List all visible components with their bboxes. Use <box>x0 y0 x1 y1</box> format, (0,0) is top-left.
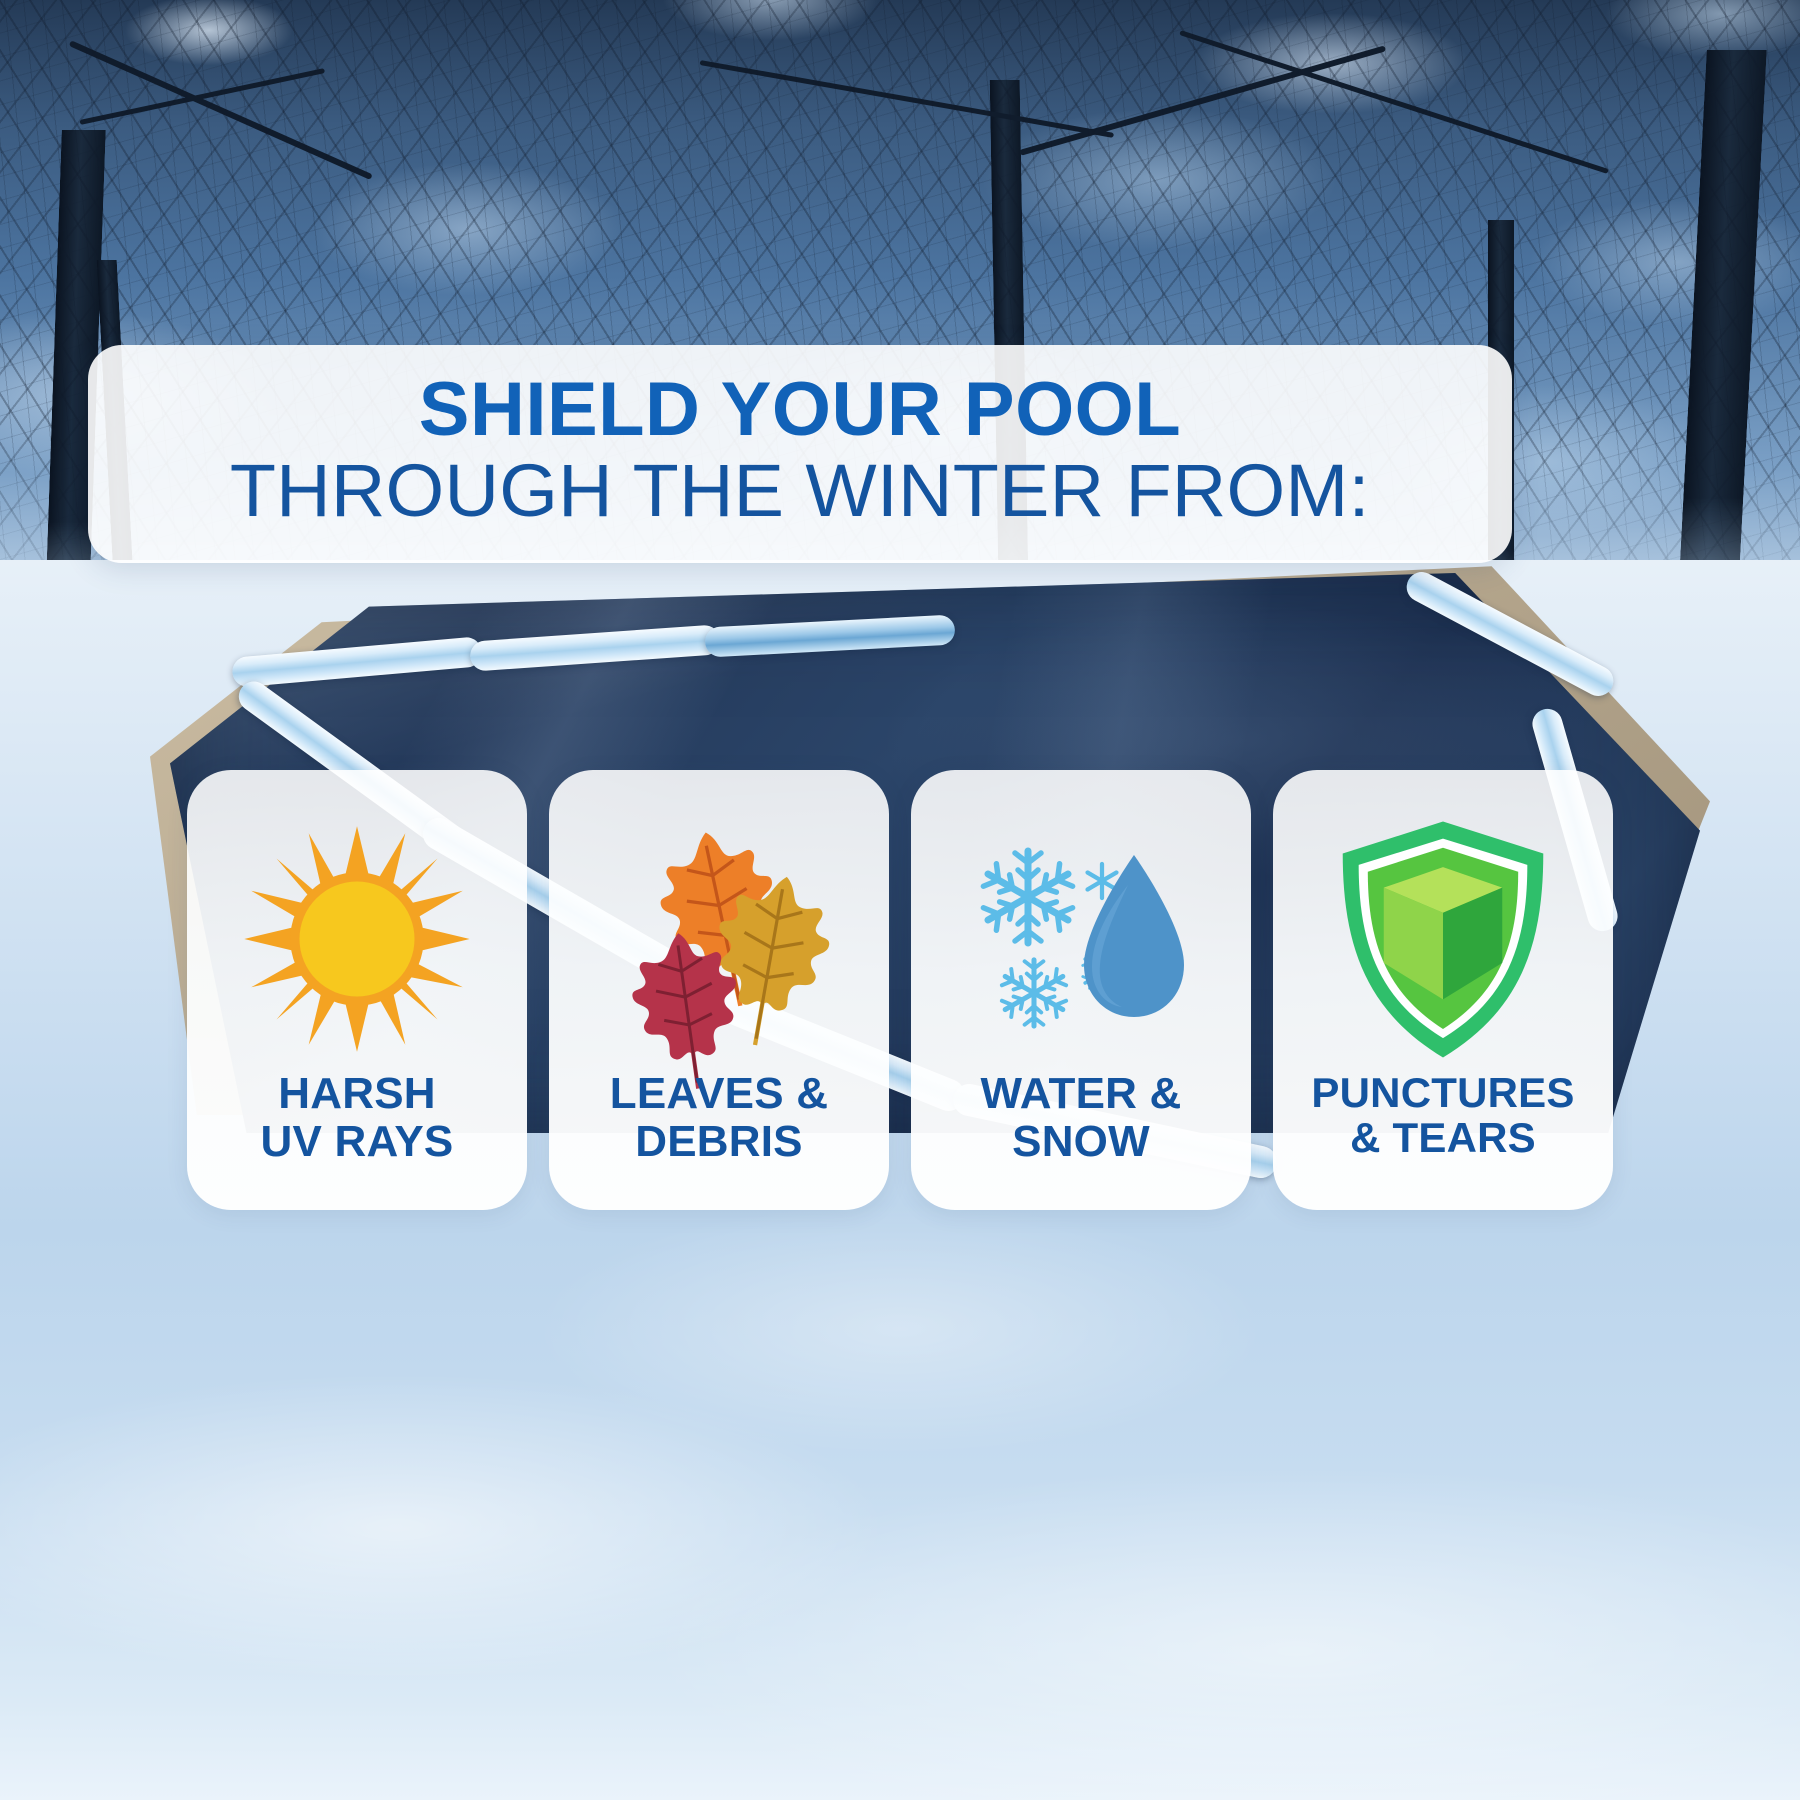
tree-branch <box>79 68 325 125</box>
sun-icon <box>232 814 482 1064</box>
shield-icon <box>1318 814 1568 1064</box>
feature-card-row: HARSH UV RAYS <box>0 770 1800 1230</box>
promo-graphic: SHIELD YOUR POOL THROUGH THE WINTER FROM… <box>0 0 1800 1800</box>
leaves-icon <box>594 814 844 1064</box>
feature-card-harsh-uv-rays[interactable]: HARSH UV RAYS <box>187 770 527 1210</box>
feature-label: LEAVES & DEBRIS <box>610 1070 828 1165</box>
feature-label: WATER & SNOW <box>980 1070 1181 1165</box>
headline-panel: SHIELD YOUR POOL THROUGH THE WINTER FROM… <box>88 345 1512 563</box>
tree-branch <box>69 40 373 180</box>
headline-line-1: SHIELD YOUR POOL <box>419 372 1181 447</box>
feature-card-punctures-tears[interactable]: PUNCTURES & TEARS <box>1273 770 1613 1210</box>
feature-card-water-snow[interactable]: WATER & SNOW <box>911 770 1251 1210</box>
feature-card-leaves-debris[interactable]: LEAVES & DEBRIS <box>549 770 889 1210</box>
tree-branch <box>1179 30 1609 174</box>
snow-water-icon <box>956 814 1206 1064</box>
tree-branch <box>1019 45 1386 156</box>
tree-branch <box>700 60 1114 138</box>
headline-line-2: THROUGH THE WINTER FROM: <box>230 453 1370 528</box>
feature-label: PUNCTURES & TEARS <box>1311 1070 1574 1161</box>
feature-label: HARSH UV RAYS <box>261 1070 454 1165</box>
